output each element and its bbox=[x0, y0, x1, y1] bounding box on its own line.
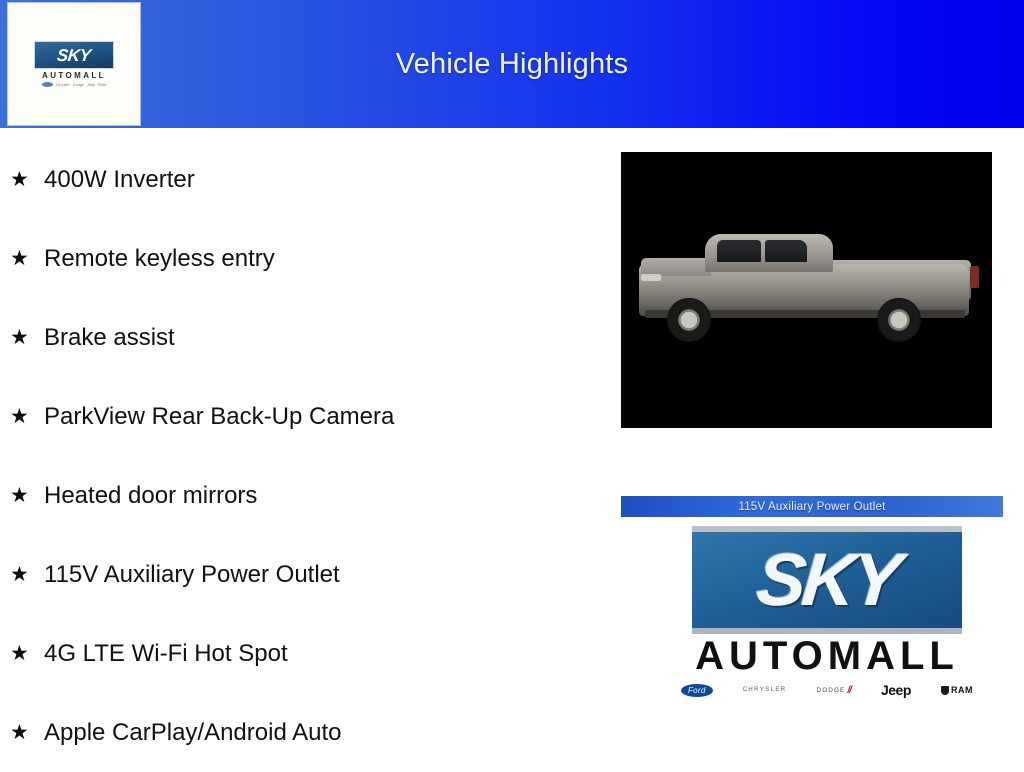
ford-oval-icon-small bbox=[42, 82, 53, 87]
truck-taillight bbox=[970, 266, 979, 288]
vehicle-highlights-list: ★ 400W Inverter ★ Remote keyless entry ★… bbox=[0, 128, 600, 768]
feature-label: ParkView Rear Back-Up Camera bbox=[44, 403, 394, 431]
sky-automall-logo-small: SKY AUTOMALL Chrysler Dodge Jeep RAM bbox=[26, 41, 122, 87]
list-item: ★ Brake assist bbox=[0, 298, 600, 377]
dodge-badge-label: DODGE bbox=[817, 687, 846, 694]
automall-wordmark-small: AUTOMALL bbox=[42, 71, 106, 80]
chrysler-badge-icon: CHRYSLER bbox=[743, 687, 787, 693]
dealer-logo-large: SKY AUTOMALL Ford CHRYSLER DODGE // Jeep… bbox=[662, 520, 992, 698]
truck-front-wheel bbox=[667, 298, 711, 342]
ford-badge-icon: Ford bbox=[681, 684, 713, 697]
list-item: ★ Apple CarPlay/Android Auto bbox=[0, 693, 600, 772]
dodge-badge-icon: DODGE // bbox=[817, 685, 851, 696]
feature-label: Brake assist bbox=[44, 324, 175, 352]
star-icon: ★ bbox=[10, 564, 44, 585]
ram-badge-label: RAM bbox=[951, 685, 973, 695]
brand-label-chrysler-small: Chrysler bbox=[56, 83, 70, 87]
truck-front-window bbox=[717, 240, 761, 262]
star-icon: ★ bbox=[10, 722, 44, 743]
list-item: ★ Heated door mirrors bbox=[0, 456, 600, 535]
feature-label: 115V Auxiliary Power Outlet bbox=[44, 561, 340, 589]
brand-badges-large: Ford CHRYSLER DODGE // Jeep RAM bbox=[681, 682, 973, 698]
list-item: ★ 400W Inverter bbox=[0, 140, 600, 219]
star-icon: ★ bbox=[10, 406, 44, 427]
sky-wordmark-large: SKY bbox=[754, 543, 901, 617]
automall-wordmark-large: AUTOMALL bbox=[695, 636, 959, 676]
star-icon: ★ bbox=[10, 327, 44, 348]
vehicle-photo bbox=[621, 152, 992, 428]
ram-shield-icon bbox=[941, 686, 949, 695]
feature-label: Remote keyless entry bbox=[44, 245, 275, 273]
list-item: ★ Remote keyless entry bbox=[0, 219, 600, 298]
star-icon: ★ bbox=[10, 643, 44, 664]
list-item: ★ 4G LTE Wi-Fi Hot Spot bbox=[0, 614, 600, 693]
feature-label: 400W Inverter bbox=[44, 166, 195, 194]
header-dealer-logo: SKY AUTOMALL Chrysler Dodge Jeep RAM bbox=[8, 3, 140, 125]
star-icon: ★ bbox=[10, 169, 44, 190]
sky-logo-panel-small: SKY bbox=[34, 41, 114, 69]
dodge-slashes-icon: // bbox=[847, 685, 851, 696]
star-icon: ★ bbox=[10, 248, 44, 269]
sky-wordmark-small: SKY bbox=[56, 47, 91, 64]
star-icon: ★ bbox=[10, 485, 44, 506]
list-item: ★ ParkView Rear Back-Up Camera bbox=[0, 377, 600, 456]
media-column: 115V Auxiliary Power Outlet SKY AUTOMALL… bbox=[610, 128, 1024, 768]
brand-label-jeep-small: Jeep bbox=[87, 83, 95, 87]
brand-badges-small: Chrysler Dodge Jeep RAM bbox=[42, 82, 107, 87]
feature-label: Heated door mirrors bbox=[44, 482, 257, 510]
feature-label: 4G LTE Wi-Fi Hot Spot bbox=[44, 640, 288, 668]
brand-label-dodge-small: Dodge bbox=[73, 83, 84, 87]
list-item: ★ 115V Auxiliary Power Outlet bbox=[0, 535, 600, 614]
truck-rear-window bbox=[765, 240, 807, 262]
page-header: SKY AUTOMALL Chrysler Dodge Jeep RAM Veh… bbox=[0, 0, 1024, 128]
ram-badge-icon: RAM bbox=[941, 685, 973, 695]
brand-label-ram-small: RAM bbox=[98, 83, 106, 87]
pickup-truck-illustration bbox=[631, 226, 983, 354]
jeep-badge-icon: Jeep bbox=[881, 682, 911, 698]
page-title: Vehicle Highlights bbox=[0, 0, 1024, 128]
truck-headlight bbox=[641, 274, 661, 281]
truck-rear-wheel bbox=[877, 298, 921, 342]
sky-logo-panel-large: SKY bbox=[692, 526, 962, 634]
feature-caption-bar: 115V Auxiliary Power Outlet bbox=[621, 496, 1003, 517]
feature-label: Apple CarPlay/Android Auto bbox=[44, 719, 342, 747]
